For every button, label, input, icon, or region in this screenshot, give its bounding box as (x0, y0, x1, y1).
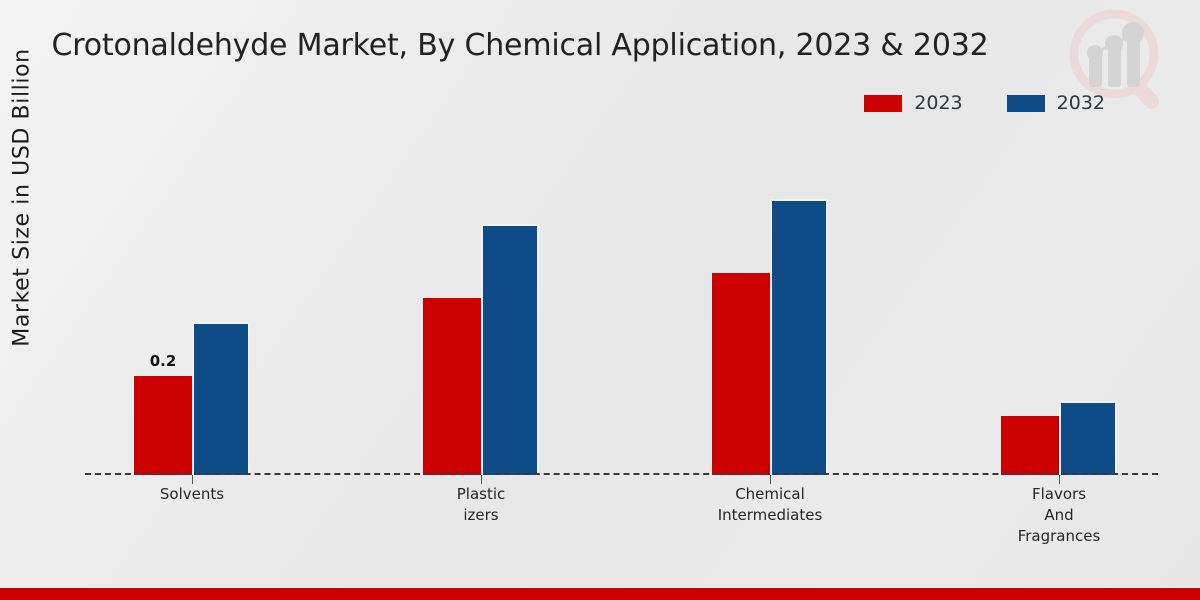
bar-2032[interactable] (770, 199, 828, 475)
category-label-line: Fragrances (961, 526, 1157, 547)
x-axis-baseline (85, 473, 1158, 475)
bar-group: FlavorsAndFragrances (1001, 130, 1117, 475)
y-axis-title: Market Size in USD Billion (10, 8, 35, 388)
bar-2032[interactable] (1059, 401, 1117, 475)
legend-item-2032[interactable]: 2032 (1007, 92, 1105, 114)
category-label-line: Solvents (94, 484, 290, 505)
bar-2023[interactable] (423, 298, 481, 475)
bar-group: ChemicalIntermediates (712, 130, 828, 475)
bar-2032[interactable] (192, 322, 250, 475)
legend-swatch-2023 (864, 95, 902, 112)
bar-2023[interactable] (1001, 416, 1059, 475)
legend-item-2023[interactable]: 2023 (864, 92, 962, 114)
x-axis-category-label: FlavorsAndFragrances (961, 484, 1157, 547)
category-label-line: Intermediates (672, 505, 868, 526)
bar-group: Plasticizers (423, 130, 539, 475)
x-axis-tick (1059, 475, 1060, 484)
category-label-line: Flavors (961, 484, 1157, 505)
chart-title: Crotonaldehyde Market, By Chemical Appli… (0, 28, 1040, 63)
x-axis-tick (770, 475, 771, 484)
footer-accent-bar (0, 588, 1200, 600)
plot-area: 0.2SolventsPlasticizersChemicalIntermedi… (85, 130, 1158, 475)
x-axis-tick (192, 475, 193, 484)
category-label-line: Chemical (672, 484, 868, 505)
x-axis-category-label: Plasticizers (383, 484, 579, 526)
bar-value-label: 0.2 (134, 352, 192, 370)
x-axis-tick (481, 475, 482, 484)
category-label-line: Plastic (383, 484, 579, 505)
bar-2032[interactable] (481, 224, 539, 475)
x-axis-category-label: Solvents (94, 484, 290, 505)
chart-page: Crotonaldehyde Market, By Chemical Appli… (0, 0, 1200, 600)
legend-label-2023: 2023 (914, 92, 962, 114)
legend-label-2032: 2032 (1057, 92, 1105, 114)
chart-legend: 2023 2032 (0, 92, 1105, 114)
x-axis-category-label: ChemicalIntermediates (672, 484, 868, 526)
category-label-line: izers (383, 505, 579, 526)
bar-2023[interactable] (134, 376, 192, 475)
legend-swatch-2032 (1007, 95, 1045, 112)
bar-group: 0.2Solvents (134, 130, 250, 475)
category-label-line: And (961, 505, 1157, 526)
bar-2023[interactable] (712, 273, 770, 475)
